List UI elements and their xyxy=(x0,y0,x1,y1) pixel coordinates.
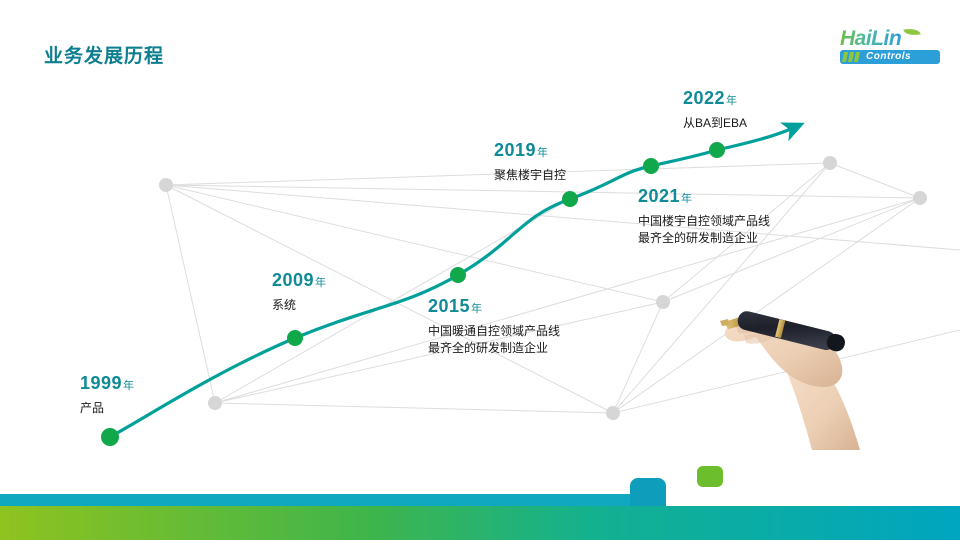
milestone-year: 1999年 xyxy=(80,373,135,394)
decoration-teal-block xyxy=(630,478,666,506)
milestone-desc: 中国暖通自控领域产品线 最齐全的研发制造企业 xyxy=(428,323,560,357)
milestone-desc: 产品 xyxy=(80,400,135,417)
logo-subbar: Controls xyxy=(840,50,940,64)
hand-holding-pen-image xyxy=(700,275,880,450)
milestone-desc: 从BA到EBA xyxy=(683,115,747,132)
bars-icon xyxy=(843,52,863,62)
milestone-1999: 1999年 产品 xyxy=(80,373,135,417)
slide-canvas: 1999年 产品 2009年 系统 2015年 中国暖通自控领域产品线 最齐全的… xyxy=(0,0,960,540)
milestone-desc: 聚焦楼宇自控 xyxy=(494,167,566,184)
milestone-year: 2015年 xyxy=(428,296,560,317)
milestone-year: 2019年 xyxy=(494,140,566,161)
milestone-year: 2009年 xyxy=(272,270,327,291)
milestone-2022: 2022年 从BA到EBA xyxy=(683,88,747,132)
growth-curve-graphic xyxy=(0,0,960,540)
milestone-2021: 2021年 中国楼宇自控领域产品线 最齐全的研发制造企业 xyxy=(638,186,770,247)
milestone-2009: 2009年 系统 xyxy=(272,270,327,314)
logo-subtext: Controls xyxy=(866,50,911,64)
logo-wordmark: HaiLin xyxy=(840,27,901,51)
milestone-desc: 中国楼宇自控领域产品线 最齐全的研发制造企业 xyxy=(638,213,770,247)
milestone-2015: 2015年 中国暖通自控领域产品线 最齐全的研发制造企业 xyxy=(428,296,560,357)
milestone-2019: 2019年 聚焦楼宇自控 xyxy=(494,140,566,184)
decoration-teal-strip xyxy=(0,494,632,506)
hailin-controls-logo: HaiLin Controls xyxy=(832,27,942,67)
page-title: 业务发展历程 xyxy=(44,41,164,68)
milestone-year: 2022年 xyxy=(683,88,747,109)
decoration-green-square-large xyxy=(697,466,723,487)
bottom-gradient-bar xyxy=(0,506,960,540)
milestone-year: 2021年 xyxy=(638,186,770,207)
milestone-desc: 系统 xyxy=(272,297,327,314)
leaf-icon xyxy=(903,26,920,37)
